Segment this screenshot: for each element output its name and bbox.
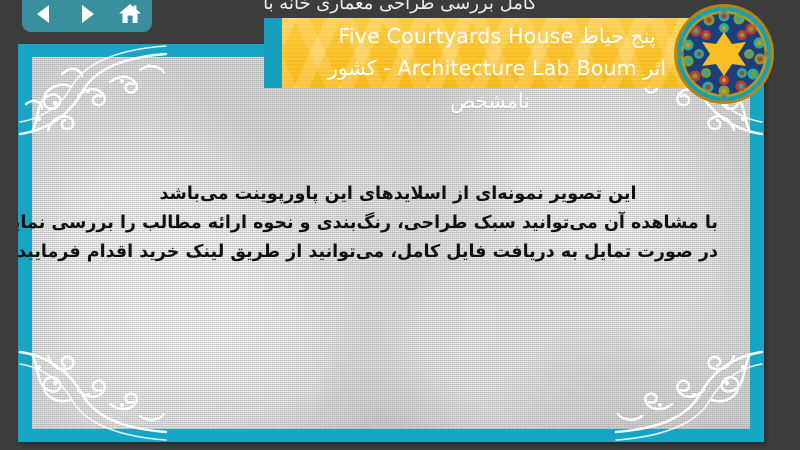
banner-title-line-2: اثر Architecture Lab Boum - کشور xyxy=(292,52,702,84)
triangle-left-icon xyxy=(33,3,55,25)
previous-slide-button[interactable] xyxy=(29,0,59,28)
triangle-right-icon xyxy=(76,3,98,25)
title-banner: پنج حیاط Five Courtyards House اثر Archi… xyxy=(264,18,716,88)
screenshot-stage: این تصویر نمونه‌ای از اسلایدهای این پاور… xyxy=(0,0,800,450)
home-icon xyxy=(118,2,142,26)
persian-medallion-icon xyxy=(672,2,776,106)
banner-title-lines: پنج حیاط Five Courtyards House اثر Archi… xyxy=(282,18,716,84)
next-slide-button[interactable] xyxy=(72,0,102,28)
title-line-3: نامشخص xyxy=(264,86,716,116)
navigation-toolbar[interactable] xyxy=(22,0,152,32)
banner-body: پنج حیاط Five Courtyards House اثر Archi… xyxy=(282,18,716,88)
banner-accent-bar xyxy=(264,18,282,88)
body-line-1: این تصویر نمونه‌ای از اسلایدهای این پاور… xyxy=(78,180,718,209)
banner-title-line-1: پنج حیاط Five Courtyards House xyxy=(292,20,702,52)
home-button[interactable] xyxy=(115,0,145,28)
body-line-2: با مشاهده آن می‌توانید سبک طراحی، رنگ‌بن… xyxy=(78,209,718,238)
slide-body-text: این تصویر نمونه‌ای از اسلایدهای این پاور… xyxy=(78,180,718,267)
body-line-3: در صورت تمایل به دریافت فایل کامل، می‌تو… xyxy=(78,238,718,267)
